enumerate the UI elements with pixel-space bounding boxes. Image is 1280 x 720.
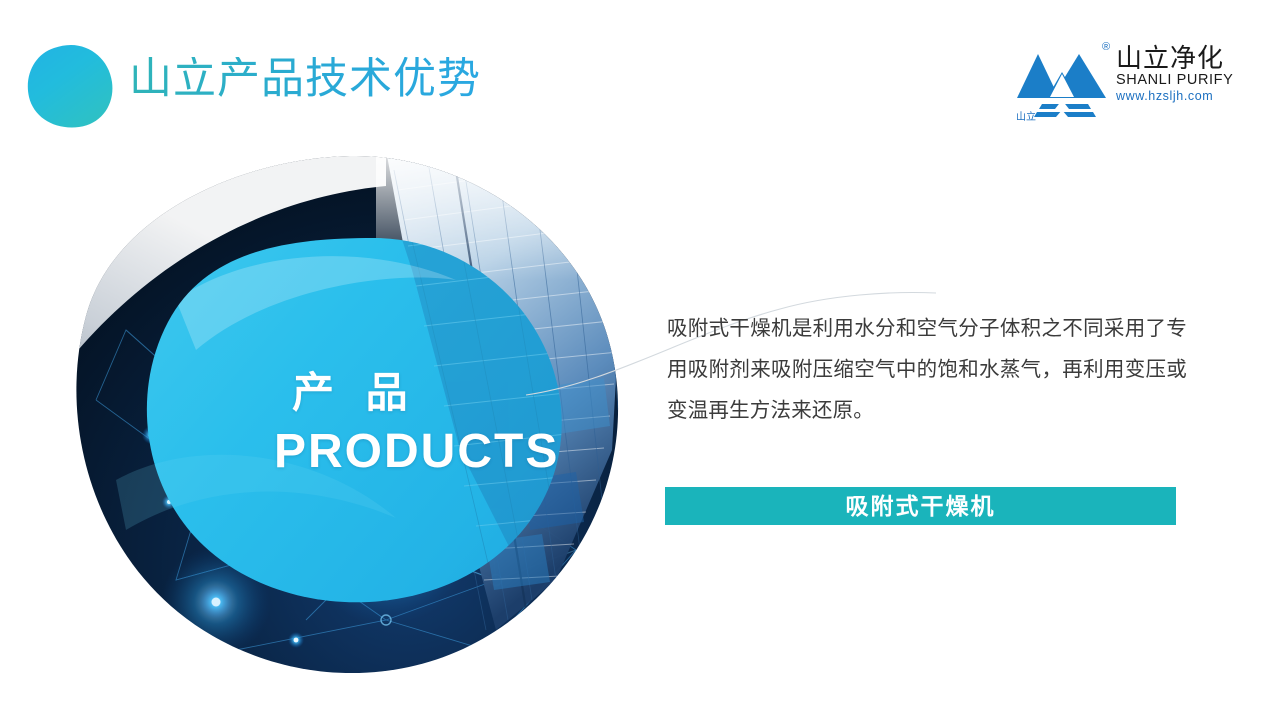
product-name-banner[interactable]: 吸附式干燥机 [665,487,1176,525]
logo-name-en: SHANLI PURIFY [1116,72,1240,89]
slide-root: 山立产品技术优势 [0,0,1280,720]
slide-header: 山立产品技术优势 [0,0,1280,145]
logo-text-block: 山立净化 SHANLI PURIFY www.hzsljh.com [1116,44,1240,103]
page-title: 山立产品技术优势 [129,57,481,102]
mountain-logo-icon [1016,42,1108,120]
logo-sub-label: 山立 [1016,113,1036,123]
product-name-banner-label: 吸附式干燥机 [846,495,996,518]
brand-logo[interactable]: ® 山立 山立净化 SHANLI PURIFY www.hzsljh.com [1016,42,1238,124]
registered-trademark-icon: ® [1102,42,1110,53]
logo-website-url[interactable]: www.hzsljh.com [1116,89,1240,103]
product-description: 吸附式干燥机是利用水分和空气分子体积之不同采用了专用吸附剂来吸附压缩空气中的饱和… [667,308,1187,431]
product-blob-graphic: 产 品 PRODUCTS [56,150,622,680]
organic-blob-icon [24,42,116,130]
logo-name-cn: 山立净化 [1116,44,1240,72]
